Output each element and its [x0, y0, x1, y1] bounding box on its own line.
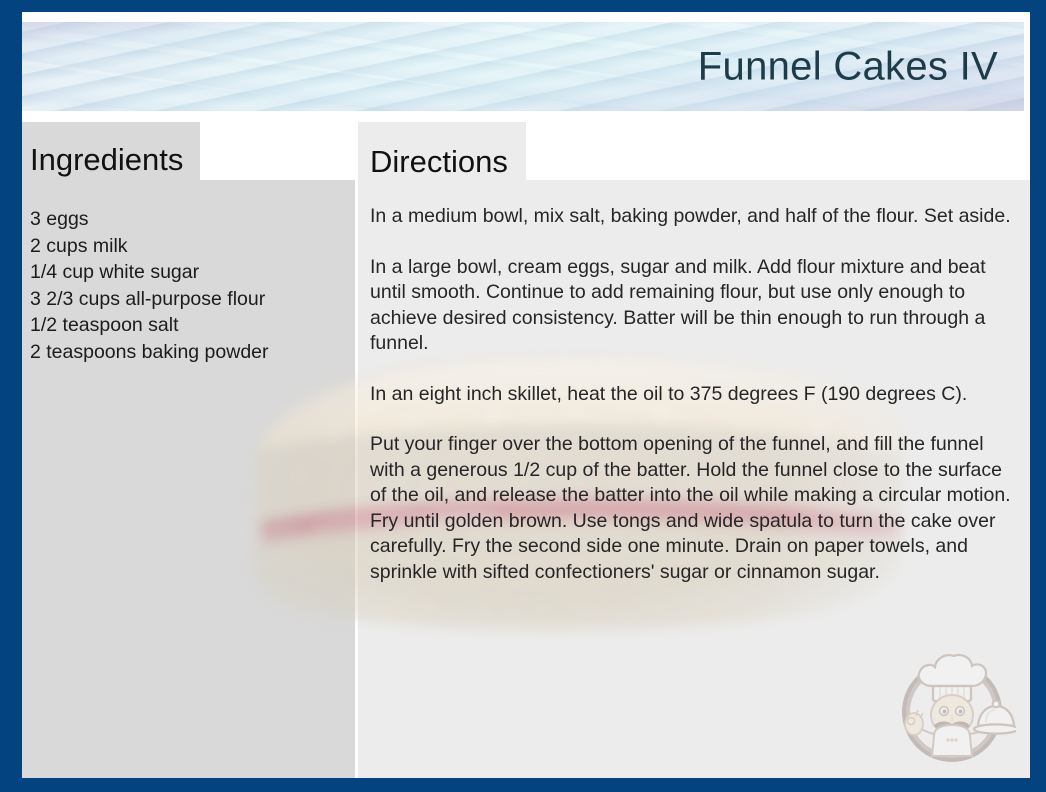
directions-steps: In a medium bowl, mix salt, baking powde… [370, 204, 1022, 585]
direction-step: In a large bowl, cream eggs, sugar and m… [370, 255, 1022, 357]
ingredient-list: 3 eggs 2 cups milk 1/4 cup white sugar 3… [30, 206, 350, 365]
list-item: 3 2/3 cups all-purpose flour [30, 286, 350, 313]
direction-step: In a medium bowl, mix salt, baking powde… [370, 204, 1022, 230]
list-item: 1/2 teaspoon salt [30, 312, 350, 339]
header-banner: Funnel Cakes IV [22, 22, 1024, 111]
ingredients-heading: Ingredients [30, 142, 183, 178]
page-title: Funnel Cakes IV [698, 44, 998, 89]
directions-heading: Directions [370, 144, 508, 180]
recipe-card-inner: Funnel Cakes IV Ingredients 3 eggs 2 cup… [22, 12, 1030, 778]
list-item: 2 cups milk [30, 233, 350, 260]
directions-panel: Directions In a medium bowl, mix salt, b… [358, 122, 1030, 778]
direction-step: In an eight inch skillet, heat the oil t… [370, 382, 1022, 408]
ingredients-panel: Ingredients 3 eggs 2 cups milk 1/4 cup w… [22, 122, 355, 778]
list-item: 2 teaspoons baking powder [30, 339, 350, 366]
direction-step: Put your finger over the bottom opening … [370, 432, 1022, 585]
content-panels: Ingredients 3 eggs 2 cups milk 1/4 cup w… [22, 122, 1030, 778]
list-item: 3 eggs [30, 206, 350, 233]
list-item: 1/4 cup white sugar [30, 259, 350, 286]
recipe-card-frame: Funnel Cakes IV Ingredients 3 eggs 2 cup… [0, 0, 1046, 792]
